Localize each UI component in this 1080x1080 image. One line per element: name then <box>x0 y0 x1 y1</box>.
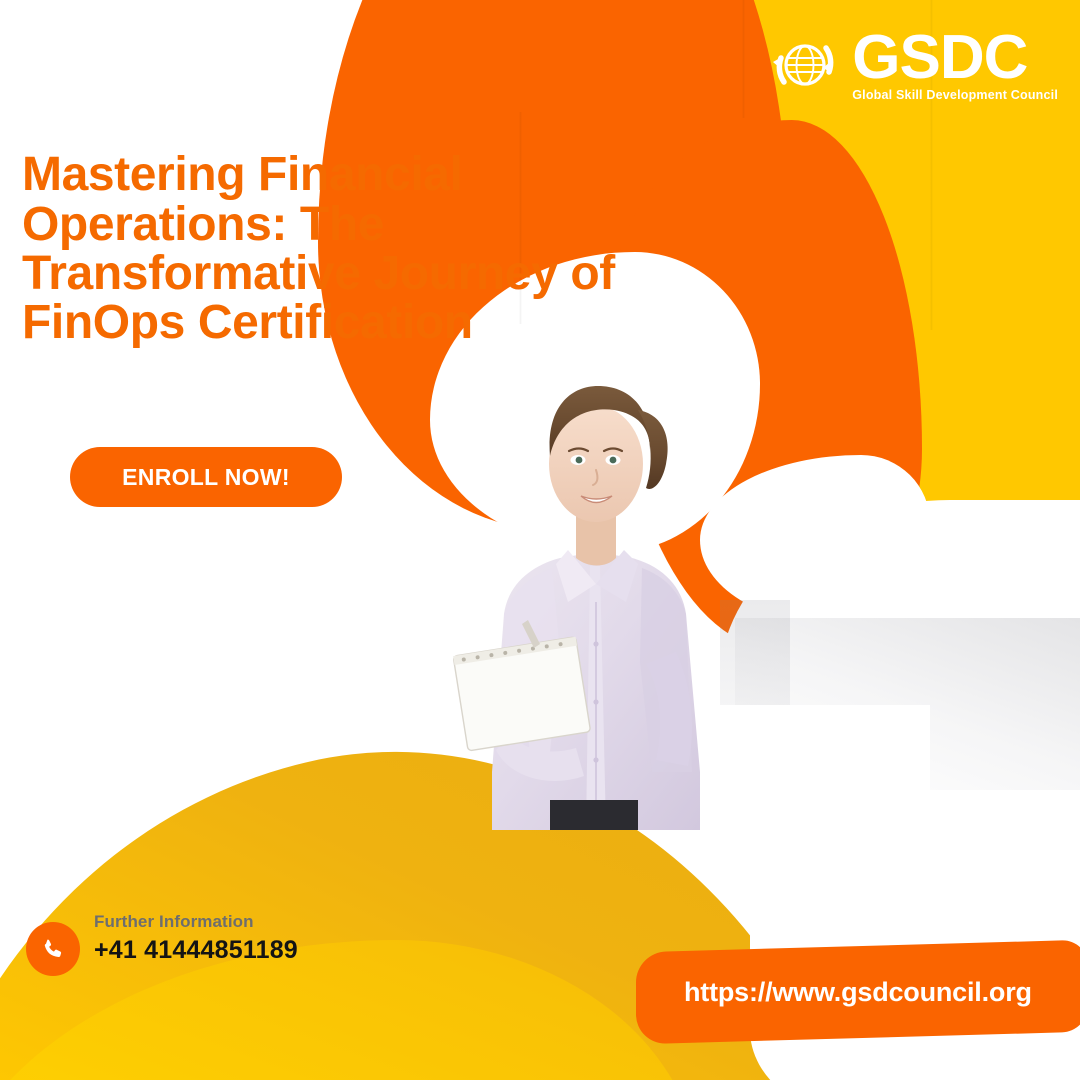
gsdc-logo: GSDC Global Skill Development Council <box>768 28 1058 102</box>
enroll-now-button[interactable]: ENROLL NOW! <box>70 447 342 507</box>
artwork-seam-line <box>742 0 745 118</box>
card-shadow <box>735 618 1080 888</box>
contact-label: Further Information <box>94 912 298 932</box>
logo-tagline: Global Skill Development Council <box>852 89 1058 102</box>
page-title: Mastering Financial Operations: The Tran… <box>22 150 647 348</box>
logo-wordmark: GSDC <box>852 29 1027 86</box>
white-card-shape <box>720 500 1080 860</box>
presenter-photo <box>400 352 740 830</box>
promotional-poster: GSDC Global Skill Development Council Ma… <box>0 0 1080 1080</box>
contact-block: Further Information +41 41444851189 <box>26 900 298 976</box>
website-url[interactable]: https://www.gsdcouncil.org <box>684 977 1032 1008</box>
globe-arrows-icon <box>768 28 842 102</box>
website-banner[interactable]: https://www.gsdcouncil.org <box>636 940 1080 1045</box>
phone-handset-icon <box>26 922 80 976</box>
contact-phone-number: +41 41444851189 <box>94 936 298 965</box>
